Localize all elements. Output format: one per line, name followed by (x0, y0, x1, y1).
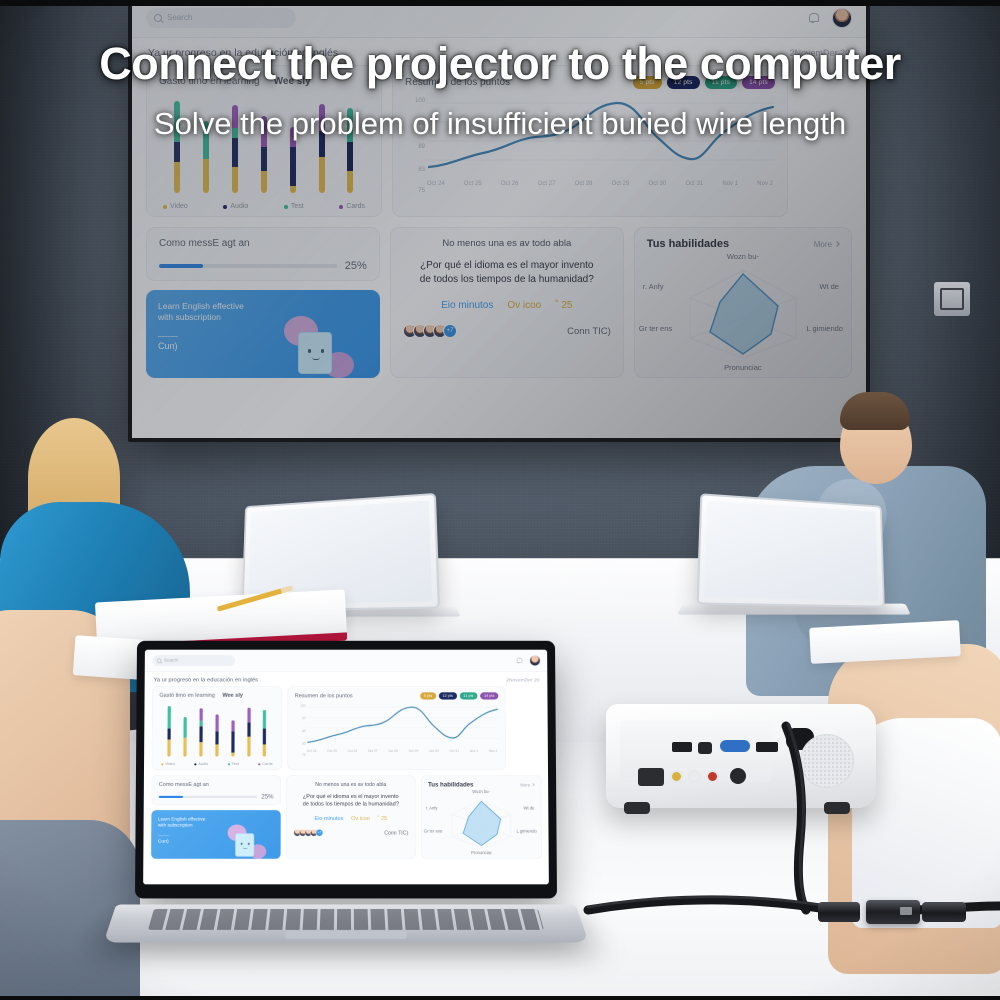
bar-chart-legend: Video Audio Test Cards (159, 762, 275, 766)
question-line1: ¿Por qué el idioma es el mayor invento (401, 259, 613, 273)
radar-label-1: Wt de (819, 282, 839, 291)
question-card: No menos una es av todo abla ¿Por qué el… (390, 227, 624, 378)
bell-icon[interactable] (807, 12, 818, 23)
bar-chart-card: Gastó timo en learning Wee sly (152, 686, 282, 769)
line-chart-plot: Oct 24 Oct 25 Oct 26 Oct 27 Oct 28 Oct 2… (307, 703, 499, 760)
left-column: Como messE agt an 25% Learn English effe… (146, 227, 380, 378)
dashboard-laptop: Search Ya ur progreso en la educación en… (143, 650, 549, 885)
radar-label-2: L gimiendo (807, 324, 843, 333)
legend-item-video: Video (161, 762, 175, 766)
hdmi-connector-male (818, 902, 860, 922)
question-line2: de todos los tiempos de la humanidad? (401, 273, 613, 287)
xtick: Oct 31 (449, 750, 459, 753)
line-chart-yaxis: 100 92 89 83 75 (295, 703, 307, 760)
dashboard-row-top: Gastó timo en learning Wee sly (144, 686, 549, 769)
pill-2[interactable]: 12 pts (439, 692, 457, 699)
search-icon (154, 14, 162, 22)
subheadline: Solve the problem of insufficient buried… (0, 106, 1000, 142)
audio-jack (730, 768, 746, 784)
bar-chart-subtitle: Wee sly (222, 692, 242, 698)
chevron-right-icon (531, 783, 534, 786)
projector-foot-right (824, 802, 850, 814)
radar-chart-svg (440, 795, 523, 850)
skills-head: Tus habilidades More (647, 238, 839, 250)
laptop-lid: Search Ya ur progreso en la educación en… (135, 641, 557, 899)
background-laptop-right (697, 493, 885, 607)
mascot-illustration (284, 308, 362, 378)
promo-line1: Learn English effective (158, 301, 278, 312)
radar-label-3: Pronunciac (724, 363, 762, 372)
search-placeholder: Search (164, 658, 178, 663)
dashboard-row-bottom: Como messE agt an 25% Learn English effe… (132, 217, 866, 378)
xtick: Nov 1 (470, 750, 479, 753)
dashboard-row-bottom: Como messE agt an 25% Lea (143, 770, 549, 859)
question-points: ˚ 25 (555, 300, 572, 311)
usb-port-b (698, 742, 712, 754)
radar-label-1: Wt de (523, 806, 534, 811)
points-pills: 5 pts 12 pts 11 pts 14 pts (420, 692, 498, 699)
bar-column (247, 708, 250, 757)
page-title: Ya ur progreso en la educación en inglés (153, 676, 258, 683)
scene: Search Ya ur progreso en la educación en… (0, 0, 1000, 1000)
legend-item-test: Test (284, 203, 304, 210)
xtick: Nov 2 (489, 750, 498, 753)
mascot-character (298, 332, 332, 374)
radar-label-4: Gr ter ens (424, 829, 442, 834)
header-date: 2NovemDer 20 (506, 677, 539, 682)
xtick: Oct 27 (368, 750, 378, 753)
progress-fill (159, 264, 203, 268)
line-chart-svg (307, 703, 499, 749)
trackpad[interactable] (285, 931, 408, 939)
ytick: 83 (302, 742, 306, 745)
xtick: Oct 29 (612, 181, 630, 187)
legend-item-audio: Audio (194, 762, 208, 766)
progress-title: Como messE agt an (159, 238, 367, 249)
radar-label-3: Pronunciac (471, 851, 492, 856)
question-title: No menos una es av todo abla (401, 238, 613, 249)
skills-card: Tus habilidades More (634, 227, 852, 378)
radar-chart: Wozn bu- Wt de L gimiendo Pronunciac Gr … (428, 789, 535, 853)
radar-label-0: Wozn bu- (727, 252, 759, 261)
xtick: Oct 25 (464, 181, 482, 187)
progress-track (159, 264, 337, 268)
radar-chart-svg (668, 262, 818, 362)
legend-item-video: Video (163, 203, 188, 210)
legend-item-test: Test (228, 762, 239, 766)
ytick: 83 (418, 167, 425, 173)
mascot-illustration (227, 820, 270, 859)
xtick: Oct 30 (429, 750, 439, 753)
keyboard-keys[interactable] (148, 909, 544, 930)
participant-avatars[interactable]: +7 (403, 324, 457, 338)
laptop-keyboard-base[interactable] (103, 904, 588, 942)
question-points: ˚ 25 (378, 816, 388, 822)
xtick: Oct 28 (388, 750, 398, 753)
pill-3[interactable]: 11 pts (460, 692, 478, 699)
line-chart-xaxis: Oct 24 Oct 25 Oct 26 Oct 27 Oct 28 Oct 2… (307, 750, 499, 753)
question-title: No menos una es av todo abla (292, 781, 409, 787)
xtick: Oct 27 (538, 181, 556, 187)
legend-item-audio: Audio (223, 203, 248, 210)
top-letterbox (0, 0, 1000, 6)
legend-item-cards: Cards (258, 762, 272, 766)
projector-port-panel (620, 720, 772, 782)
projector (596, 700, 888, 830)
ytick: 75 (302, 754, 306, 757)
xtick: Oct 31 (685, 181, 703, 187)
participant-avatars[interactable]: +7 (293, 829, 323, 837)
promo-line2: with subscription (158, 823, 224, 829)
bar-column (231, 720, 234, 756)
radar-label-4: Gr ter ens (639, 324, 672, 333)
radar-label-5: r. Anfy (643, 282, 664, 291)
question-footer: +7 Conn TIC) (401, 324, 613, 338)
progress-title: Como messE agt an (159, 781, 274, 787)
search-icon (157, 658, 161, 662)
mascot-character (235, 833, 254, 856)
ytick: 89 (302, 730, 306, 733)
avatar[interactable] (529, 655, 540, 666)
avatar[interactable] (832, 8, 852, 28)
rca-video-jack (670, 770, 683, 783)
xtick: Oct 30 (649, 181, 667, 187)
question-line2: de todos los tiempos de la humanidad? (292, 801, 409, 809)
search-input[interactable]: Search (146, 8, 296, 28)
bottom-letterbox (0, 996, 1000, 1000)
progress-fill (159, 796, 184, 798)
skills-card: Tus habilidades More (421, 775, 542, 858)
avatar-overflow[interactable]: +7 (443, 324, 457, 338)
bar-chart-legend: Video Audio Test Cards (159, 203, 369, 210)
hdmi-coupler (866, 900, 920, 924)
vga-port (720, 740, 750, 752)
line-chart-card: Resumen de los puntos 5 pts 12 pts 11 pt… (287, 686, 505, 769)
progress-value: 25% (345, 260, 367, 272)
pill-4[interactable]: 14 pts (480, 692, 498, 699)
wall-panel (934, 282, 970, 316)
laptop-screen[interactable]: Search Ya ur progreso en la educación en… (143, 650, 549, 885)
ytick: 92 (302, 717, 306, 720)
bar-column (199, 708, 203, 757)
xtick: Nov 1 (722, 181, 738, 187)
promo-card[interactable]: Learn English effective with subscriptio… (146, 290, 380, 378)
question-author: Ov icoo (507, 300, 541, 311)
projector-speaker (800, 734, 854, 788)
question-meta: Eio minutos Ov icoo ˚ 25 (401, 300, 613, 311)
xtick: Oct 24 (307, 750, 317, 753)
progress-row: 25% (159, 260, 367, 272)
skills-title: Tus habilidades (428, 781, 473, 788)
question-footer-label: Conn TIC) (567, 326, 611, 337)
question-time: Eio minutos (441, 300, 493, 311)
skills-more-button[interactable]: More (520, 782, 534, 787)
line-chart-title: Resumen de los puntos (295, 693, 353, 699)
chevron-right-icon (834, 241, 840, 247)
radar-label-2: L gimiendo (517, 829, 537, 834)
xtick: Oct 25 (327, 750, 337, 753)
hdmi-port (756, 742, 778, 752)
rca-audio-right-jack (706, 770, 719, 783)
radar-label-0: Wozn bu- (472, 789, 490, 794)
rca-audio-left-jack (688, 770, 701, 783)
question-author: Ov icoo (351, 816, 370, 822)
hair (840, 392, 910, 430)
pill-1[interactable]: 5 pts (420, 692, 436, 699)
bar-column (263, 710, 266, 756)
laptop[interactable]: Search Ya ur progreso en la educación en… (136, 640, 556, 912)
question-card: No menos una es av todo abla ¿Por qué el… (286, 775, 416, 858)
ytick: 75 (418, 188, 425, 194)
projector-body (606, 704, 876, 808)
promo-button[interactable]: Cun) (158, 836, 169, 844)
xtick: Oct 24 (427, 181, 445, 187)
skills-more-button[interactable]: More (814, 240, 839, 249)
skills-title: Tus habilidades (647, 238, 729, 250)
progress-value: 25% (261, 794, 273, 801)
promo-button[interactable]: Cun) (158, 336, 178, 351)
radar-chart: Wozn bu- Wt de L gimiendo Pronunciac Gr … (647, 252, 839, 368)
progress-card: Como messE agt an 25% (151, 775, 280, 805)
dashboard-header: Ya ur progreso en la educación en inglés… (145, 672, 549, 687)
radar-label-5: r. Anfy (426, 806, 438, 811)
bar-column (167, 706, 171, 757)
projector-foot-left (624, 802, 650, 814)
ytick: 100 (415, 98, 425, 104)
xtick: Oct 26 (501, 181, 519, 187)
ytick: 100 (300, 705, 306, 708)
question-footer-label: Conn TIC) (384, 830, 408, 836)
xtick: Oct 26 (347, 750, 357, 753)
question-time: Eio minutos (314, 816, 343, 822)
line-chart-xaxis: Oct 24 Oct 25 Oct 26 Oct 27 Oct 28 Oct 2… (427, 181, 775, 187)
search-input[interactable]: Search (152, 655, 234, 666)
progress-card: Como messE agt an 25% (146, 227, 380, 281)
xtick: Nov 2 (757, 181, 773, 187)
avatar-overflow[interactable]: +7 (315, 829, 323, 837)
laptop-screen-content: Search Ya ur progreso en la educación en… (143, 650, 367, 885)
legend-item-cards: Cards (339, 203, 365, 210)
bell-icon[interactable] (516, 657, 522, 663)
power-inlet (638, 768, 664, 786)
search-placeholder: Search (167, 13, 192, 22)
promo-line2: with subscription (158, 312, 278, 323)
progress-track (159, 796, 257, 798)
bar-chart-title: Gastó timo en learning (159, 692, 214, 698)
ytick: 89 (418, 144, 425, 150)
xtick: Oct 29 (409, 750, 419, 753)
bar-column (215, 714, 219, 756)
question-line1: ¿Por qué el idioma es el mayor invento (292, 793, 409, 801)
bar-chart-plot (159, 706, 275, 757)
bar-column (183, 717, 187, 756)
headline: Connect the projector to the computer (0, 38, 1000, 90)
promo-card[interactable]: Learn English effective with subscriptio… (151, 810, 281, 859)
hdmi-connector-female (922, 902, 966, 922)
xtick: Oct 28 (575, 181, 593, 187)
dashboard-topbar: Search (145, 650, 548, 672)
usb-port-a (672, 742, 692, 752)
